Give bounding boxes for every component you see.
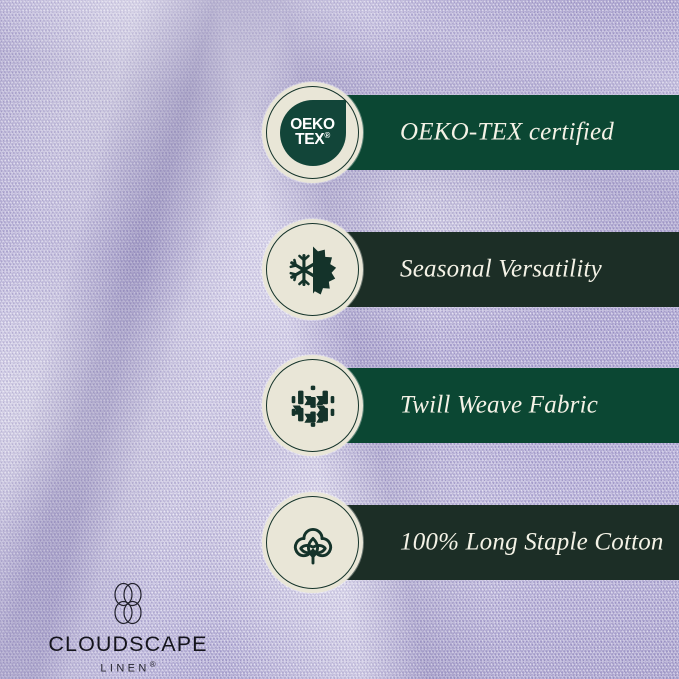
product-feature-infographic: OEKO-TEX certified OEKO TEX® Seasonal Ve…: [0, 0, 679, 679]
feature-label-seasonal-versatility: Seasonal Versatility: [400, 255, 602, 283]
feature-label-oeko-tex: OEKO-TEX certified: [400, 118, 614, 146]
feature-badge-long-staple-cotton: [262, 492, 363, 593]
oeko-tex-line-2: TEX®: [295, 132, 330, 148]
feature-badge-oeko-tex: OEKO TEX®: [262, 82, 363, 183]
feature-label-twill-weave: Twill Weave Fabric: [400, 391, 598, 419]
cotton-boll-icon: [284, 514, 342, 572]
oeko-tex-line-1: OEKO: [290, 117, 334, 133]
brand-logo: CLOUDSCAPE LINEN®: [33, 580, 223, 674]
interlocking-loops-logo-icon: [106, 580, 150, 628]
brand-subtitle: LINEN®: [33, 661, 223, 675]
brand-name: CLOUDSCAPE: [33, 634, 223, 656]
feature-label-long-staple-cotton: 100% Long Staple Cotton: [400, 528, 664, 556]
woven-twill-icon: [284, 377, 342, 435]
oeko-tex-logo-icon: OEKO TEX®: [280, 100, 346, 166]
feature-badge-twill-weave: [262, 355, 363, 456]
feature-badge-seasonal-versatility: [262, 219, 363, 320]
snowflake-sun-icon: [284, 241, 342, 299]
